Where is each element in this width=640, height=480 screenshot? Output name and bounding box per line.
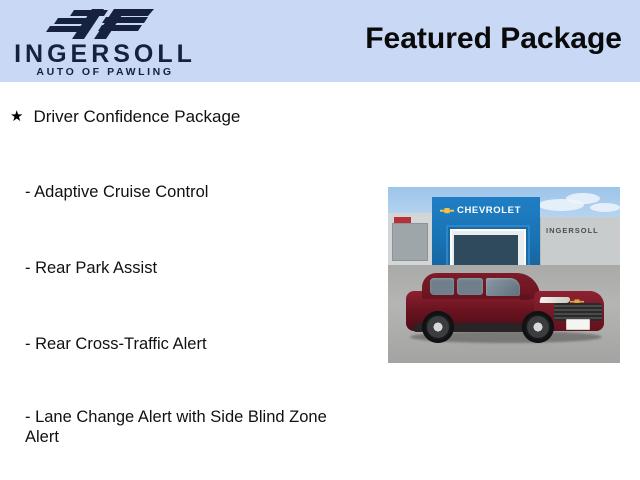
vehicle-front-wheel — [522, 311, 554, 343]
vehicle-license-plate — [566, 319, 590, 330]
ingersoll-wing-emblem-icon — [44, 7, 156, 41]
feature-item: - Adaptive Cruise Control — [25, 182, 345, 202]
chevrolet-sign-text: CHEVROLET — [457, 205, 521, 216]
cloud — [566, 193, 600, 204]
vehicle-windshield — [486, 278, 520, 296]
dealership-left-window — [392, 223, 428, 261]
vehicle-mirror — [520, 295, 530, 300]
package-title: Driver Confidence Package — [33, 107, 240, 127]
dealership-ingersoll-sign: INGERSOLL — [546, 226, 599, 235]
chevrolet-bowtie-icon — [440, 208, 454, 214]
feature-item: - Rear Cross-Traffic Alert — [25, 334, 345, 354]
dealer-logo: INGERSOLL AUTO OF PAWLING — [0, 2, 210, 82]
dealership-chevrolet-sign: CHEVROLET — [440, 205, 521, 216]
page-header: INGERSOLL AUTO OF PAWLING Featured Packa… — [0, 0, 640, 82]
dealership-right-wing — [540, 217, 620, 267]
brand-subtitle: AUTO OF PAWLING — [6, 67, 204, 78]
brand-name: INGERSOLL — [6, 42, 204, 67]
feature-item: - Rear Park Assist — [25, 258, 345, 278]
package-heading: ★ Driver Confidence Package — [10, 107, 240, 127]
wheel-rim — [427, 316, 449, 338]
vehicle-photo: INGERSOLL CHEVROLET — [388, 187, 620, 363]
vehicle-side-window — [457, 278, 483, 295]
vehicle-rear-window — [430, 278, 454, 295]
vehicle-illustration — [404, 271, 608, 345]
star-bullet-icon: ★ — [10, 109, 23, 124]
wheel-rim — [527, 316, 549, 338]
page-title: Featured Package — [365, 22, 622, 56]
content-area: ★ Driver Confidence Package - Adaptive C… — [0, 82, 640, 480]
service-bay-opening — [454, 235, 518, 267]
vehicle-rear-wheel — [422, 311, 454, 343]
cloud — [590, 203, 620, 212]
feature-item: - Lane Change Alert with Side Blind Zone… — [25, 407, 345, 447]
